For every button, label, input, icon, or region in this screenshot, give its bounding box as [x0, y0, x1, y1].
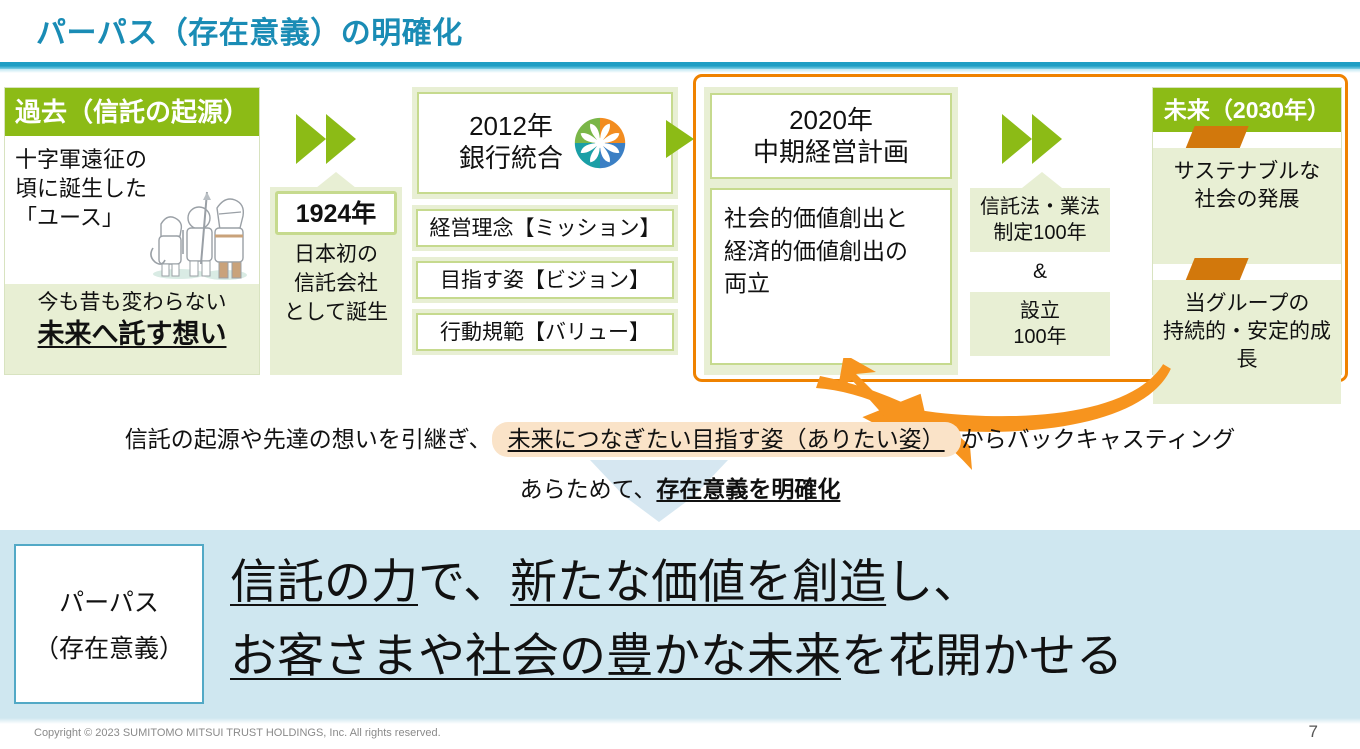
- panel-2020: 2020年 中期経営計画 社会的価値創出と 経済的価値創出の 両立: [704, 87, 958, 375]
- future-block-2-line-1: 当グループの: [1153, 290, 1341, 318]
- purpose-phrase-new-value: 新たな価値を創造: [510, 557, 886, 609]
- middle-explanation: 信託の起源や先達の想いを引継ぎ、未来につなぎたい目指す姿（ありたい姿）からバック…: [0, 412, 1360, 522]
- purpose-statement-line-2: お客さまや社会の豊かな未来を花開かせる: [230, 620, 1350, 694]
- panel-future: 未来（2030年） サステナブルな 社会の発展 当グループの 持続的・安定的成長: [1152, 87, 1342, 375]
- future-block-1: サステナブルな 社会の発展: [1153, 148, 1341, 264]
- arrow-into-2020: [666, 114, 708, 164]
- panel-hundred-years: 信託法・業法 制定100年 & 設立 100年: [970, 188, 1110, 375]
- hundred-founding-block: 設立 100年: [970, 292, 1110, 356]
- footer-divider: [0, 718, 1360, 724]
- panel-2020-subtitle: 中期経営計画: [753, 136, 909, 169]
- hundred-law-line-2: 制定100年: [970, 220, 1110, 246]
- panel-1924-text: 日本初の 信託会社 として誕生: [270, 235, 402, 328]
- mvv-item-vision-label: 目指す姿【ビジョン】: [416, 261, 674, 299]
- panel-1924: 1924年 日本初の 信託会社 として誕生: [270, 187, 402, 375]
- panel-2020-body: 社会的価値創出と 経済的価値創出の 両立: [710, 188, 952, 365]
- past-footer-big: 未来へ託す想い: [5, 316, 259, 352]
- purpose-conn-3: を花開かせる: [841, 631, 1123, 683]
- panel-2012: 2012年 銀行統合: [412, 87, 678, 375]
- mvv-item-value-label: 行動規範【バリュー】: [416, 313, 674, 351]
- past-body-line-1: 十字軍遠征の: [15, 145, 259, 174]
- title-divider: [0, 62, 1360, 69]
- hundred-founding-line-2: 100年: [970, 324, 1110, 350]
- middle-line-2: あらためて、存在意義を明確化: [0, 470, 1360, 504]
- hundred-ampersand: &: [970, 252, 1110, 292]
- middle-line-1-pill: 未来につなぎたい目指す姿（ありたい姿）: [492, 422, 961, 457]
- page-number: 7: [1309, 722, 1318, 742]
- copyright-notice: Copyright © 2023 SUMITOMO MITSUI TRUST H…: [34, 727, 441, 739]
- mvv-item-vision: 目指す姿【ビジョン】: [412, 257, 678, 303]
- middle-line-2-emphasis: 存在意義を明確化: [656, 476, 840, 502]
- mvv-item-mission: 経営理念【ミッション】: [412, 205, 678, 251]
- panel-2020-body-line-2: 経済的価値創出の: [724, 235, 940, 268]
- future-block-1-line-1: サステナブルな: [1153, 158, 1341, 186]
- panel-2020-header: 2020年 中期経営計画: [710, 93, 952, 179]
- mvv-item-value: 行動規範【バリュー】: [412, 309, 678, 355]
- chevron-arrow-2: [992, 102, 1092, 188]
- panel-1924-year: 1924年: [275, 191, 397, 235]
- panel-past-footer: 今も昔も変わらない 未来へ託す想い: [5, 284, 259, 374]
- panel-2012-year: 2012年: [459, 111, 563, 143]
- panel-2012-header-box: 2012年 銀行統合: [412, 87, 678, 199]
- panel-past-body: 十字軍遠征の 頃に誕生した 「ユース」: [5, 136, 259, 284]
- panel-1924-line-2: 信託会社: [270, 270, 402, 299]
- hundred-law-line-1: 信託法・業法: [970, 194, 1110, 220]
- panel-2012-title: 2012年 銀行統合: [459, 111, 563, 174]
- page-title: パーパス（存在意義）の明確化: [36, 8, 463, 52]
- panel-1924-line-3: として誕生: [270, 299, 402, 328]
- purpose-label-box: パーパス （存在意義）: [14, 544, 204, 704]
- future-gap-2: [1153, 264, 1341, 280]
- chevron-arrow-1: [286, 102, 386, 188]
- slide-root: パーパス（存在意義）の明確化 過去（信託の起源） 十字軍遠征の 頃に誕生した 「…: [0, 0, 1360, 749]
- purpose-label-line-1: パーパス: [59, 583, 159, 619]
- middle-line-1-before: 信託の起源や先達の想いを引継ぎ、: [125, 426, 492, 452]
- panel-past-header: 過去（信託の起源）: [5, 88, 259, 136]
- hundred-law-block: 信託法・業法 制定100年: [970, 188, 1110, 252]
- middle-line-2-before: あらためて、: [520, 476, 657, 502]
- past-footer-small: 今も昔も変わらない: [5, 290, 259, 316]
- purpose-band: パーパス （存在意義） 信託の力で、新たな価値を創造し、 お客さまや社会の豊かな…: [0, 530, 1360, 718]
- purpose-statement-line-1: 信託の力で、新たな価値を創造し、: [230, 546, 1350, 620]
- panel-2020-year: 2020年: [753, 104, 909, 137]
- crusader-knights-icon: [139, 178, 255, 282]
- middle-line-1-after: からバックキャスティング: [961, 426, 1236, 452]
- purpose-phrase-rich-future: お客さまや社会の豊かな未来: [230, 631, 841, 683]
- mvv-item-mission-label: 経営理念【ミッション】: [416, 209, 674, 247]
- purpose-conn-2: し、: [886, 557, 980, 609]
- panel-2012-subtitle: 銀行統合: [459, 143, 563, 175]
- title-divider-fade: [0, 69, 1360, 73]
- panel-2012-mvv-list: 経営理念【ミッション】 目指す姿【ビジョン】 行動規範【バリュー】: [412, 205, 678, 355]
- panel-2020-body-line-3: 両立: [724, 267, 940, 300]
- panel-past: 過去（信託の起源） 十字軍遠征の 頃に誕生した 「ユース」: [4, 87, 260, 375]
- purpose-statement: 信託の力で、新たな価値を創造し、 お客さまや社会の豊かな未来を花開かせる: [230, 546, 1350, 695]
- purpose-phrase-trust-power: 信託の力: [230, 557, 418, 609]
- panel-2020-body-line-1: 社会的価値創出と: [724, 202, 940, 235]
- panel-1924-line-1: 日本初の: [270, 241, 402, 270]
- hundred-founding-line-1: 設立: [970, 298, 1110, 324]
- future-block-1-line-2: 社会の発展: [1153, 186, 1341, 214]
- timeline-diagram: 過去（信託の起源） 十字軍遠征の 頃に誕生した 「ユース」: [0, 78, 1360, 388]
- future-gap-1: [1153, 132, 1341, 148]
- purpose-label-line-2: （存在意義）: [34, 629, 184, 665]
- purpose-conn-1: で、: [418, 557, 510, 609]
- middle-line-1: 信託の起源や先達の想いを引継ぎ、未来につなぎたい目指す姿（ありたい姿）からバック…: [0, 420, 1360, 454]
- smtb-logo-icon: [569, 112, 631, 174]
